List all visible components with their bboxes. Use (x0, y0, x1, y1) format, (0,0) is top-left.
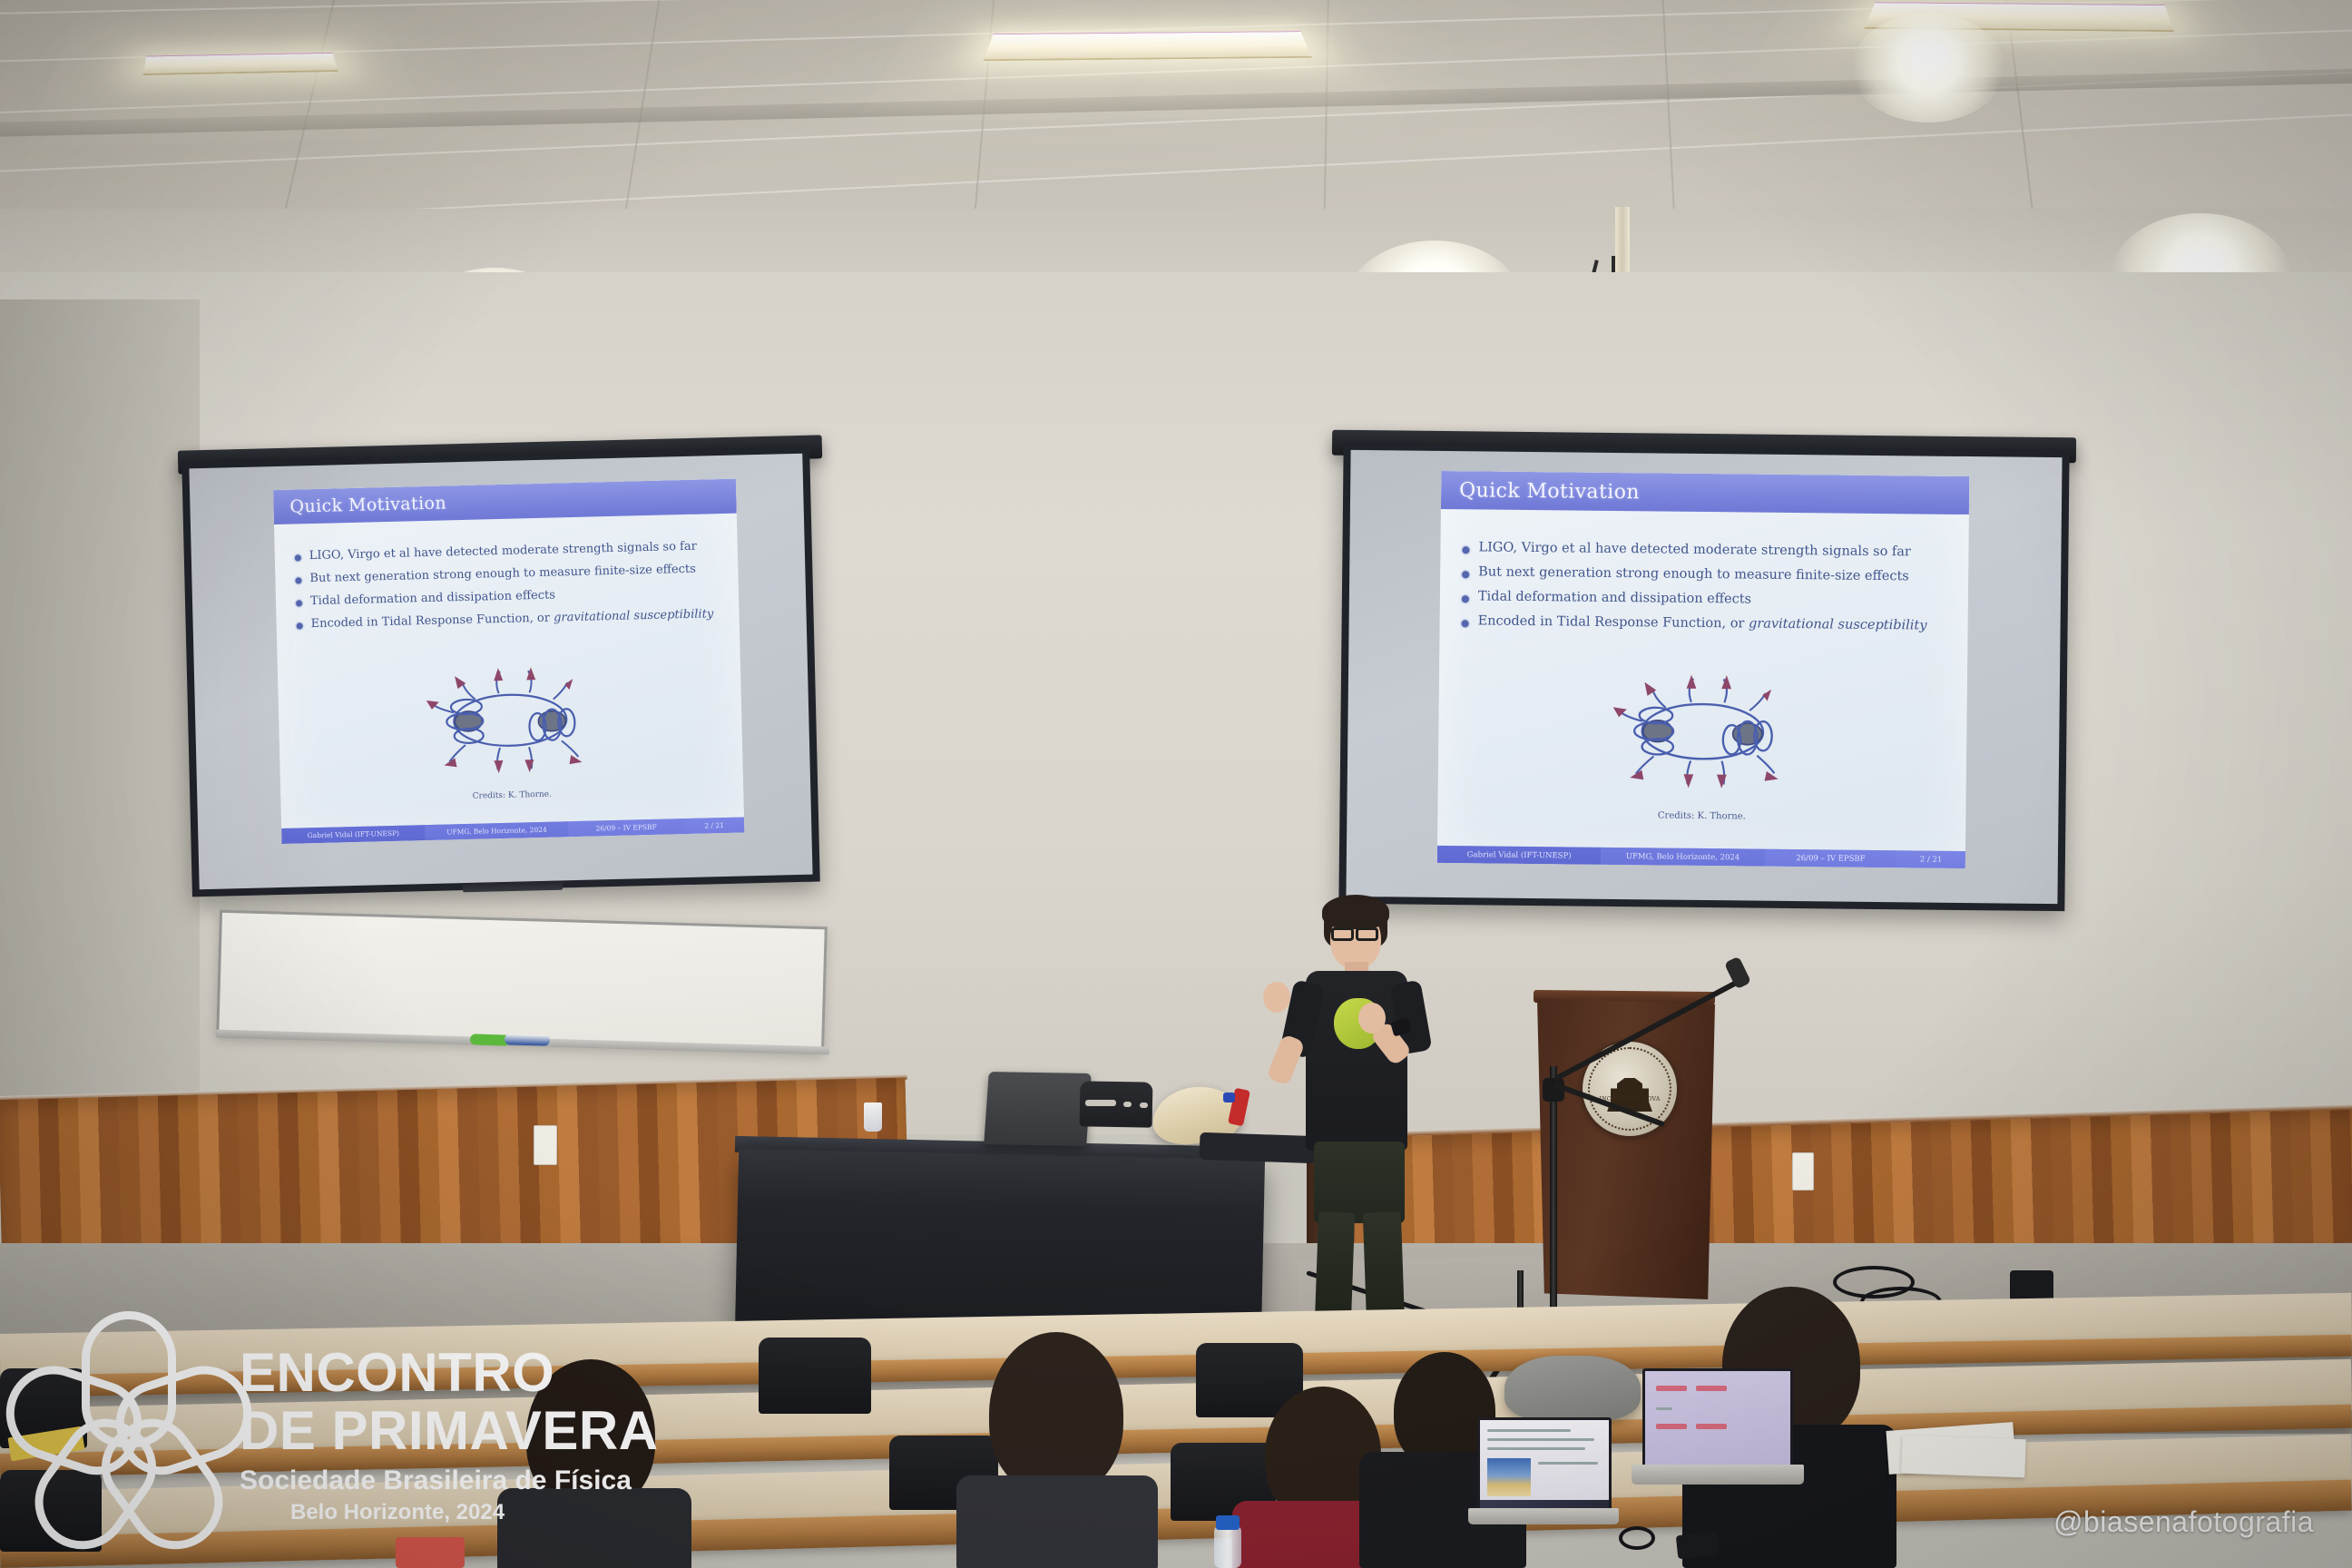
audience-seat (759, 1338, 871, 1414)
slide-bullet-emphasis: gravitational susceptibility (554, 607, 713, 624)
binary-merger-diagram (1585, 654, 1821, 804)
presenter-pants (1314, 1142, 1405, 1223)
bullet-icon (1462, 620, 1469, 627)
slide-title-left: Quick Motivation (289, 493, 446, 516)
flower-logo-icon (34, 1334, 223, 1543)
slide-bullet: But next generation strong enough to mea… (309, 563, 696, 585)
slide-bullet: Tidal deformation and dissipation effect… (310, 589, 555, 609)
bag-dark-cloth (1200, 1132, 1317, 1163)
event-logo: ENCONTRO DE PRIMAVERA Sociedade Brasilei… (34, 1334, 659, 1543)
figure-credit-left: Credits: K. Thorne. (280, 786, 743, 806)
slide-left: Quick Motivation LIGO, Virgo et al have … (273, 479, 744, 844)
floor-power-brick (2010, 1270, 2053, 1301)
slide-footer-author: Gabriel Vidal (IFT-UNESP) (281, 825, 425, 844)
bullet-icon (1462, 546, 1469, 554)
ceiling-light-panel (143, 53, 338, 75)
logo-line-1: ENCONTRO (240, 1346, 659, 1400)
slide-bullet: Encoded in Tidal Response Function, or (310, 612, 554, 632)
backpack (1504, 1356, 1641, 1421)
water-cup (864, 1102, 882, 1132)
slide-footer-venue: UFMG, Belo Horizonte, 2024 (425, 821, 568, 840)
desk-cable-loop (1619, 1526, 1655, 1550)
bullet-icon (1462, 595, 1469, 603)
eyeglasses (1356, 927, 1378, 941)
paper-sheets (1901, 1436, 2025, 1478)
logo-line-4: Belo Horizonte, 2024 (290, 1502, 659, 1524)
lecture-hall-photo: Quick Motivation LIGO, Virgo et al have … (0, 0, 2352, 1568)
wall-outlet (534, 1125, 557, 1165)
slide-title-right: Quick Motivation (1459, 479, 1640, 504)
slide-right: Quick Motivation LIGO, Virgo et al have … (1437, 471, 1969, 868)
slide-footer-event: 26/09 – IV EPSBF (1765, 849, 1897, 868)
bullet-icon (296, 600, 302, 606)
presenter-laptop (984, 1072, 1092, 1146)
bullet-icon (1462, 571, 1469, 578)
wall-outlet (1792, 1152, 1814, 1191)
bottle-cap (1216, 1515, 1240, 1530)
side-wall (0, 299, 200, 1152)
bullet-icon (295, 577, 301, 583)
water-bottle (1214, 1526, 1241, 1568)
slide-footer-event: 26/09 – IV EPSBF (568, 818, 684, 837)
slide-footer-page: 2 / 21 (1896, 850, 1965, 868)
bag-clip (1223, 1093, 1235, 1102)
bullet-icon (295, 554, 301, 561)
logo-line-3: Sociedade Brasileira de Física (240, 1467, 659, 1494)
figure-credit-right: Credits: K. Thorne. (1437, 808, 1965, 824)
ceiling-spotlight (1851, 14, 2005, 122)
photographer-watermark: @biasenafotografia (2053, 1505, 2314, 1539)
slide-bullet: LIGO, Virgo et al have detected moderate… (309, 540, 697, 563)
slide-bullet: Tidal deformation and dissipation effect… (1478, 589, 1751, 606)
slide-bullet: Encoded in Tidal Response Function, or (1478, 613, 1749, 631)
whiteboard-eraser (505, 1034, 550, 1045)
slide-footer-page: 2 / 21 (684, 818, 745, 835)
bullet-icon (297, 622, 303, 629)
slide-bullet-emphasis: gravitational susceptibility (1749, 617, 1927, 633)
logo-line-2: DE PRIMAVERA (240, 1404, 659, 1458)
eyeglasses (1331, 927, 1354, 941)
presenter-hand-right (1358, 1003, 1386, 1034)
slide-footer-author: Gabriel Vidal (IFT-UNESP) (1437, 846, 1602, 865)
slide-bullet: But next generation strong enough to mea… (1478, 564, 1909, 583)
presenter-hand-left (1263, 982, 1290, 1013)
binary-merger-diagram (399, 647, 621, 789)
slide-bullet: LIGO, Virgo et al have detected moderate… (1478, 540, 1911, 559)
ceiling-light-panel (984, 31, 1312, 61)
slide-footer-venue: UFMG, Belo Horizonte, 2024 (1601, 848, 1765, 867)
smartphone (1676, 1532, 1720, 1560)
